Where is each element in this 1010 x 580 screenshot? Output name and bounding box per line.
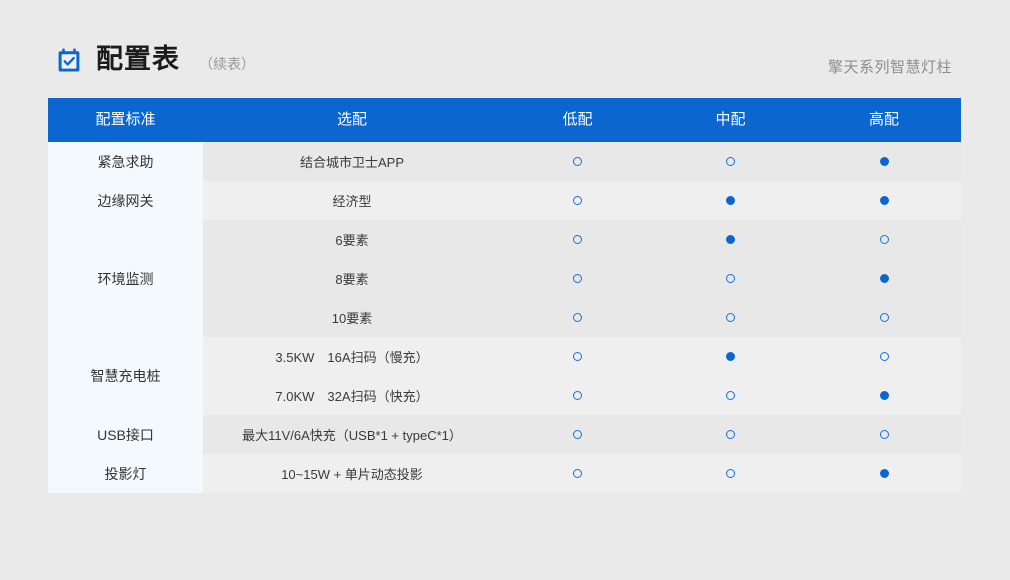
hollow-circle-icon (573, 313, 582, 322)
support-cell-mid (654, 352, 807, 361)
filled-circle-icon (726, 235, 735, 244)
filled-circle-icon (726, 196, 735, 205)
support-cell-high (807, 196, 961, 205)
support-cell-mid (654, 157, 807, 166)
standard-cell: 紧急求助 (48, 142, 203, 181)
support-cell-low (501, 157, 654, 166)
column-header-option: 选配 (203, 98, 501, 142)
column-header-standard: 配置标准 (48, 98, 203, 142)
support-cell-high (807, 274, 961, 283)
hollow-circle-icon (880, 313, 889, 322)
table-row: 结合城市卫士APP (203, 142, 961, 181)
hollow-circle-icon (880, 430, 889, 439)
table-row: 10要素 (203, 298, 961, 337)
hollow-circle-icon (573, 157, 582, 166)
support-cell-mid (654, 430, 807, 439)
hollow-circle-icon (726, 313, 735, 322)
table-body: 紧急求助边缘网关环境监测智慧充电桩USB接口投影灯 结合城市卫士APP经济型6要… (48, 142, 961, 493)
standard-cell: 智慧充电桩 (48, 337, 203, 415)
standard-cell: 边缘网关 (48, 181, 203, 220)
support-cell-mid (654, 313, 807, 322)
hollow-circle-icon (573, 352, 582, 361)
option-cell: 10~15W + 单片动态投影 (203, 464, 501, 483)
support-cell-mid (654, 391, 807, 400)
standard-cell: 投影灯 (48, 454, 203, 493)
table-row: 10~15W + 单片动态投影 (203, 454, 961, 493)
table-header-row: 配置标准 选配 低配 中配 高配 (48, 98, 961, 142)
standard-cell: 环境监测 (48, 220, 203, 337)
column-header-high: 高配 (807, 98, 961, 142)
calendar-check-icon (56, 47, 82, 73)
support-cell-low (501, 274, 654, 283)
support-cell-low (501, 430, 654, 439)
hollow-circle-icon (726, 157, 735, 166)
support-cell-low (501, 469, 654, 478)
hollow-circle-icon (573, 274, 582, 283)
support-cell-low (501, 313, 654, 322)
hollow-circle-icon (726, 391, 735, 400)
support-cell-high (807, 469, 961, 478)
hollow-circle-icon (573, 235, 582, 244)
filled-circle-icon (880, 157, 889, 166)
support-cell-low (501, 352, 654, 361)
hollow-circle-icon (573, 430, 582, 439)
column-header-low: 低配 (501, 98, 654, 142)
hollow-circle-icon (573, 391, 582, 400)
option-cell: 3.5KW 16A扫码（慢充） (203, 347, 501, 366)
option-cell: 8要素 (203, 269, 501, 288)
column-header-mid: 中配 (654, 98, 807, 142)
filled-circle-icon (880, 274, 889, 283)
configuration-table: 配置标准 选配 低配 中配 高配 紧急求助边缘网关环境监测智慧充电桩USB接口投… (48, 98, 961, 493)
hollow-circle-icon (726, 430, 735, 439)
option-cell: 结合城市卫士APP (203, 152, 501, 171)
page-title: 配置表 (96, 46, 180, 73)
support-cell-mid (654, 235, 807, 244)
hollow-circle-icon (726, 469, 735, 478)
hollow-circle-icon (573, 196, 582, 205)
support-cell-mid (654, 274, 807, 283)
hollow-circle-icon (880, 352, 889, 361)
option-cell: 最大11V/6A快充（USB*1 + typeC*1） (203, 425, 501, 444)
support-cell-mid (654, 469, 807, 478)
support-cell-low (501, 196, 654, 205)
hollow-circle-icon (880, 235, 889, 244)
page-subtitle: （续表） (199, 57, 255, 71)
support-cell-high (807, 235, 961, 244)
support-cell-low (501, 391, 654, 400)
support-cell-high (807, 313, 961, 322)
table-row: 3.5KW 16A扫码（慢充） (203, 337, 961, 376)
filled-circle-icon (726, 352, 735, 361)
rows-column: 结合城市卫士APP经济型6要素8要素10要素3.5KW 16A扫码（慢充）7.0… (203, 142, 961, 493)
standard-cell: USB接口 (48, 415, 203, 454)
option-cell: 10要素 (203, 308, 501, 327)
option-cell: 7.0KW 32A扫码（快充） (203, 386, 501, 405)
title-group: 配置表 （续表） (56, 46, 255, 73)
standard-column: 紧急求助边缘网关环境监测智慧充电桩USB接口投影灯 (48, 142, 203, 493)
table-row: 6要素 (203, 220, 961, 259)
configuration-table-page: 配置表 （续表） 擎天系列智慧灯柱 配置标准 选配 低配 中配 高配 紧急求助边… (0, 0, 1010, 580)
page-header: 配置表 （续表） 擎天系列智慧灯柱 (0, 0, 1010, 98)
table-row: 7.0KW 32A扫码（快充） (203, 376, 961, 415)
table-row: 经济型 (203, 181, 961, 220)
table-row: 8要素 (203, 259, 961, 298)
table-row: 最大11V/6A快充（USB*1 + typeC*1） (203, 415, 961, 454)
filled-circle-icon (880, 196, 889, 205)
option-cell: 经济型 (203, 191, 501, 210)
filled-circle-icon (880, 469, 889, 478)
hollow-circle-icon (726, 274, 735, 283)
support-cell-high (807, 352, 961, 361)
support-cell-low (501, 235, 654, 244)
brand-label: 擎天系列智慧灯柱 (828, 56, 952, 77)
option-cell: 6要素 (203, 230, 501, 249)
support-cell-high (807, 430, 961, 439)
support-cell-high (807, 391, 961, 400)
support-cell-high (807, 157, 961, 166)
support-cell-mid (654, 196, 807, 205)
filled-circle-icon (880, 391, 889, 400)
hollow-circle-icon (573, 469, 582, 478)
